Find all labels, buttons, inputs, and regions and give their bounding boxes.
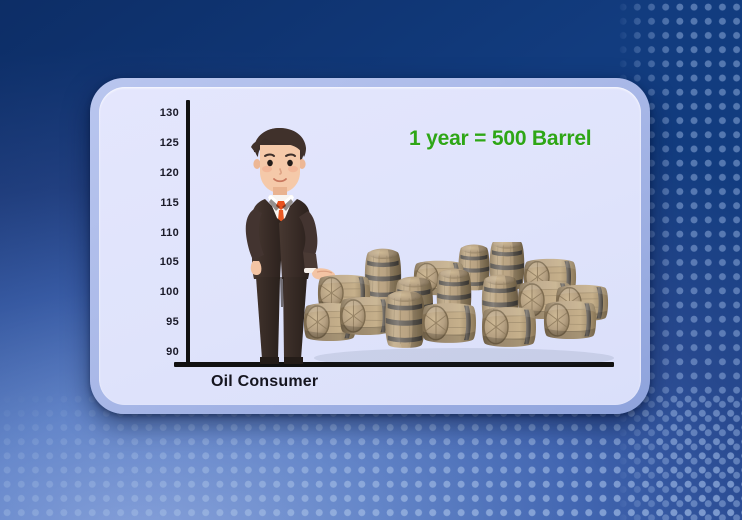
y-axis-tick-100: 100 xyxy=(160,287,179,298)
slide-card-surface: 1301251201151101051009590 1 year = 500 B… xyxy=(99,87,641,405)
headline-text: 1 year = 500 Barrel xyxy=(409,127,591,151)
y-axis-tick-120: 120 xyxy=(160,168,179,179)
slide-stage: 1301251201151101051009590 1 year = 500 B… xyxy=(0,0,742,520)
y-axis-tick-125: 125 xyxy=(160,138,179,149)
y-axis-tick-labels: 1301251201151101051009590 xyxy=(139,87,179,367)
y-axis-line xyxy=(186,100,190,366)
x-axis-label: Oil Consumer xyxy=(211,373,318,391)
slide-card: 1301251201151101051009590 1 year = 500 B… xyxy=(90,78,650,414)
y-axis-tick-115: 115 xyxy=(160,198,179,209)
barrel xyxy=(544,301,596,339)
y-axis-tick-95: 95 xyxy=(166,317,179,328)
y-axis-tick-90: 90 xyxy=(166,347,179,358)
y-axis-tick-110: 110 xyxy=(160,228,179,239)
barrel xyxy=(340,297,392,335)
barrel xyxy=(385,291,425,348)
oil-barrel-pile xyxy=(304,242,619,366)
barrel xyxy=(482,307,536,347)
y-axis-tick-130: 130 xyxy=(160,108,179,119)
barrel xyxy=(422,303,476,343)
y-axis-tick-105: 105 xyxy=(160,257,179,268)
